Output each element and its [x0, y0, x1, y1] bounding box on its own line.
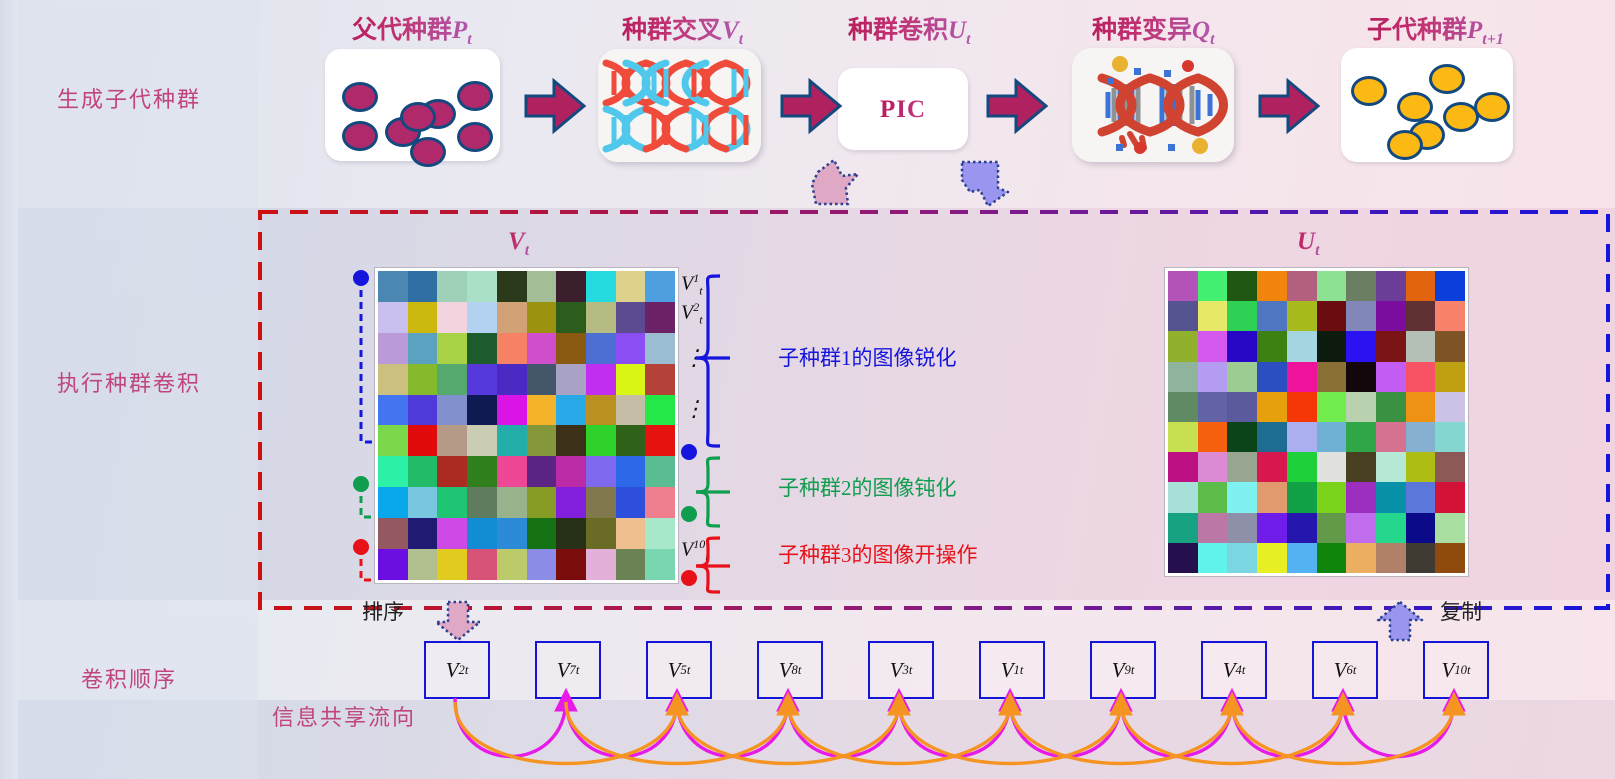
arrow-convolution-to-mutation [986, 78, 1048, 139]
title-population-convolution: 种群卷积Ut [848, 10, 971, 49]
ut-cell [1168, 271, 1198, 301]
offspring-individual [1351, 76, 1387, 106]
ut-cell [1346, 422, 1376, 452]
dotted-callout-arrow-purple [958, 158, 1010, 213]
ut-cell [1198, 331, 1228, 361]
offspring-population-card [1341, 48, 1513, 162]
ut-cell [1198, 301, 1228, 331]
parent-individual [342, 82, 378, 112]
ut-cell [1376, 271, 1406, 301]
parent-individual [400, 102, 436, 132]
arrow-parent-to-crossover [524, 78, 586, 139]
ut-cell [1227, 362, 1257, 392]
offspring-individual [1397, 92, 1433, 122]
ut-cell [1376, 452, 1406, 482]
parent-population-card [325, 49, 500, 161]
ut-cell [1317, 331, 1347, 361]
ut-cell [1198, 422, 1228, 452]
arrow-crossover-to-convolution [780, 78, 842, 139]
ut-cell [1435, 331, 1465, 361]
ut-cell [1198, 543, 1228, 573]
ut-cell [1287, 482, 1317, 512]
ut-cell [1257, 271, 1287, 301]
sort-down-arrow-icon [432, 600, 484, 647]
ut-cell [1257, 392, 1287, 422]
ut-matrix-title: Ut [1297, 228, 1320, 260]
row-label-generate-offspring: 生成子代种群 [0, 82, 258, 114]
ut-cell [1257, 362, 1287, 392]
dotted-callout-arrow-pink [808, 158, 866, 213]
ut-cell [1317, 452, 1347, 482]
ut-cell [1317, 271, 1347, 301]
ut-cell [1435, 392, 1465, 422]
ut-cell [1227, 301, 1257, 331]
flow-arrow [1121, 698, 1232, 757]
flow-arrow [1343, 698, 1454, 757]
ut-cell [1287, 452, 1317, 482]
ut-cell [1376, 392, 1406, 422]
ut-cell [1257, 482, 1287, 512]
ut-cell [1287, 422, 1317, 452]
group2-left-dot [353, 476, 369, 492]
crossover-dna-icon [598, 49, 761, 162]
ut-cell [1227, 543, 1257, 573]
ut-cell [1346, 482, 1376, 512]
ut-cell [1435, 482, 1465, 512]
ut-cell [1227, 271, 1257, 301]
ut-cell [1435, 513, 1465, 543]
ut-cell [1376, 331, 1406, 361]
ut-cell [1168, 301, 1198, 331]
ut-cell [1435, 362, 1465, 392]
group1-right-dot [681, 444, 697, 460]
ut-cell [1317, 422, 1347, 452]
ut-cell [1406, 513, 1436, 543]
ut-cell [1198, 482, 1228, 512]
ut-cell [1346, 362, 1376, 392]
ut-cell [1168, 482, 1198, 512]
title-population-mutation: 种群变异Qt [1092, 10, 1215, 49]
pic-label: PIC [880, 96, 926, 124]
ut-cell [1257, 513, 1287, 543]
ut-cell [1406, 362, 1436, 392]
ut-cell [1406, 331, 1436, 361]
ut-cell [1406, 452, 1436, 482]
ut-cell [1198, 513, 1228, 543]
parent-individual [342, 121, 378, 151]
title-population-crossover: 种群交叉Vt [622, 10, 743, 49]
ut-cell [1287, 271, 1317, 301]
ut-cell [1168, 392, 1198, 422]
ut-cell [1287, 543, 1317, 573]
ut-cell [1376, 513, 1406, 543]
ut-cell [1346, 513, 1376, 543]
ut-cell [1435, 543, 1465, 573]
flow-arrow [1010, 698, 1121, 757]
group-label-blur: 子种群2的图像钝化 [778, 472, 957, 502]
ut-cell [1346, 301, 1376, 331]
ut-cell [1257, 452, 1287, 482]
flow-arrow [677, 698, 788, 757]
ut-cell [1346, 392, 1376, 422]
ut-cell [1168, 362, 1198, 392]
group3-right-dot [681, 570, 697, 586]
ut-cell [1168, 422, 1198, 452]
ut-cell [1257, 331, 1287, 361]
offspring-individual [1387, 130, 1423, 160]
group2-right-dot [681, 506, 697, 522]
ut-cell [1376, 543, 1406, 573]
flow-arrow [788, 698, 899, 757]
ut-cell [1198, 392, 1228, 422]
ut-cell [1287, 301, 1317, 331]
parent-individual [457, 122, 493, 152]
ut-cell [1198, 362, 1228, 392]
ut-cell [1287, 513, 1317, 543]
offspring-individual [1429, 64, 1465, 94]
ut-cell [1287, 362, 1317, 392]
ut-cell [1346, 331, 1376, 361]
ut-cell [1287, 331, 1317, 361]
ut-cell [1435, 301, 1465, 331]
ut-cell [1376, 362, 1406, 392]
group-label-opening: 子种群3的图像开操作 [778, 539, 978, 569]
ut-cell [1257, 543, 1287, 573]
ut-cell [1227, 513, 1257, 543]
ut-cell [1317, 392, 1347, 422]
ut-cell [1435, 271, 1465, 301]
ut-cell [1227, 482, 1257, 512]
ut-cell [1287, 392, 1317, 422]
flow-arrow [1232, 698, 1343, 757]
mutation-dna-icon [1072, 48, 1234, 162]
ut-cell [1376, 422, 1406, 452]
ut-cell [1435, 422, 1465, 452]
information-flow-arrows [0, 688, 1615, 779]
ut-cell [1406, 543, 1436, 573]
arrow-mutation-to-offspring [1258, 78, 1320, 139]
parent-individual [457, 81, 493, 111]
group3-left-dot [353, 539, 369, 555]
diagram-canvas: 生成子代种群 执行种群卷积 卷积顺序 信息共享流向 父代种群Pt 种群交叉Vt … [0, 0, 1615, 779]
ut-cell [1406, 271, 1436, 301]
ut-cell [1168, 543, 1198, 573]
flow-arrow [455, 698, 566, 757]
ut-matrix [1165, 268, 1468, 576]
ut-cell [1406, 422, 1436, 452]
group1-left-dot [353, 270, 369, 286]
ut-cell [1227, 331, 1257, 361]
ut-cell [1227, 392, 1257, 422]
ut-cell [1168, 452, 1198, 482]
ut-cell [1317, 543, 1347, 573]
row-label-perform-convolution: 执行种群卷积 [0, 366, 258, 398]
ut-cell [1198, 452, 1228, 482]
ut-cell [1406, 301, 1436, 331]
ut-cell [1227, 452, 1257, 482]
ut-cell [1168, 513, 1198, 543]
copy-up-arrow-icon [1374, 600, 1426, 647]
title-parent-population: 父代种群Pt [352, 10, 472, 49]
ut-cell [1257, 422, 1287, 452]
ut-cell [1168, 331, 1198, 361]
offspring-individual [1474, 92, 1510, 122]
ut-cell [1317, 482, 1347, 512]
title-offspring-population: 子代种群Pt+1 [1367, 10, 1504, 49]
ut-cell [1376, 301, 1406, 331]
ut-cell [1257, 301, 1287, 331]
ut-cell [1346, 452, 1376, 482]
ut-cell [1435, 452, 1465, 482]
flow-arrow [899, 698, 1010, 757]
flow-arrow [566, 698, 677, 757]
ut-cell [1376, 482, 1406, 512]
ut-cell [1317, 301, 1347, 331]
group-brackets [352, 262, 742, 592]
ut-cell [1317, 362, 1347, 392]
copy-label: 复制 [1440, 596, 1482, 626]
group-label-sharpen: 子种群1的图像锐化 [778, 342, 957, 372]
vt-matrix-title: Vt [508, 228, 529, 260]
ut-cell [1227, 422, 1257, 452]
ut-cell [1317, 513, 1347, 543]
ut-cell [1346, 271, 1376, 301]
ut-cell [1198, 271, 1228, 301]
parent-individual [410, 137, 446, 167]
ut-cell [1346, 543, 1376, 573]
ut-cell [1406, 482, 1436, 512]
ut-cell [1406, 392, 1436, 422]
sort-label: 排序 [362, 596, 404, 626]
